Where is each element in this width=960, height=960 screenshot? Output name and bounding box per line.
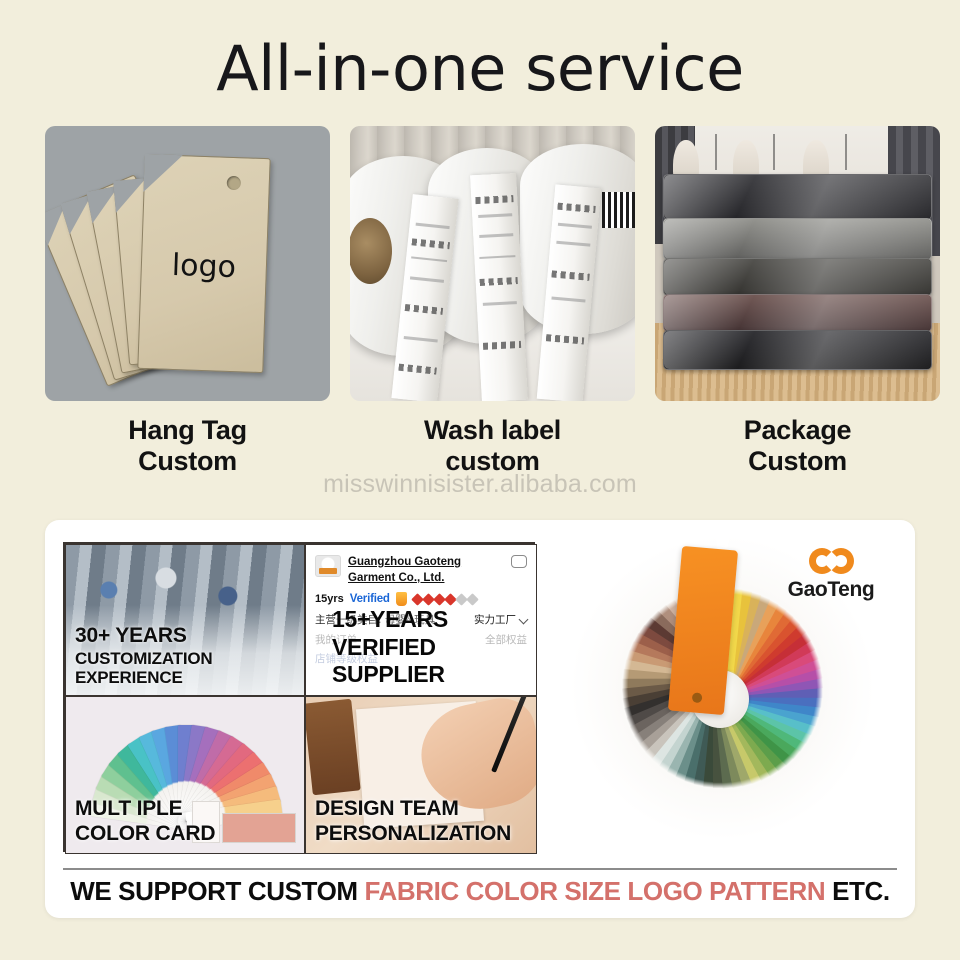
message-icon[interactable] bbox=[511, 555, 527, 568]
service-card-package[interactable]: Package Custom bbox=[655, 126, 940, 477]
hang-tag-logo-text: logo bbox=[141, 247, 266, 286]
package-photo bbox=[655, 126, 940, 401]
years-badge: 15yrs bbox=[315, 593, 344, 605]
footer-prefix: WE SUPPORT CUSTOM bbox=[70, 876, 364, 906]
card-caption-line2: custom bbox=[350, 446, 635, 477]
service-cards-row: logo Hang Tag Custom bbox=[0, 126, 960, 477]
card-caption-line1: Wash label bbox=[350, 415, 635, 446]
card-caption-line1: Package bbox=[655, 415, 940, 446]
hang-tag-hole bbox=[227, 176, 241, 190]
capabilities-grid: 30+ YEARS CUSTOMIZATION EXPERIENCE Guang… bbox=[63, 542, 535, 852]
footer-highlight: FABRIC COLOR SIZE LOGO PATTERN bbox=[364, 876, 825, 906]
design-team-overlay-text: DESIGN TEAM PERSONALIZATION bbox=[315, 797, 511, 846]
chain-link-icon bbox=[771, 546, 891, 576]
garment-rack bbox=[773, 134, 775, 170]
supplier-badges: 15yrs Verified bbox=[306, 586, 536, 606]
barcode-icon bbox=[602, 192, 635, 228]
factory-overlay-line1: 30+ YEARS bbox=[75, 624, 304, 648]
grid-cell-color-card[interactable]: MULT IPLE COLOR CARD bbox=[65, 696, 305, 854]
chain-ring-right-icon bbox=[828, 548, 854, 574]
poly-bag bbox=[663, 330, 932, 370]
gaoteng-logo-text: GaoTeng bbox=[771, 578, 891, 602]
color-card-overlay-line1: MULT IPLE bbox=[75, 797, 215, 821]
roll-core bbox=[350, 218, 392, 284]
panel-footer: WE SUPPORT CUSTOM FABRIC COLOR SIZE LOGO… bbox=[45, 876, 915, 907]
card-caption-hang-tag: Hang Tag Custom bbox=[45, 415, 330, 477]
factory-overlay-text: 30+ YEARS CUSTOMIZATION EXPERIENCE bbox=[75, 624, 304, 688]
leather-swatch bbox=[305, 699, 361, 796]
color-swatch-salmon bbox=[222, 813, 296, 843]
medal-icon bbox=[396, 592, 407, 606]
poly-bag bbox=[663, 258, 932, 296]
card-caption-line1: Hang Tag bbox=[45, 415, 330, 446]
color-card-overlay-text: MULT IPLE COLOR CARD bbox=[75, 797, 215, 846]
garment-rack bbox=[715, 134, 717, 170]
supplier-overlay-line1: 15+YEARS bbox=[332, 606, 536, 634]
hang-tag-photo: logo bbox=[45, 126, 330, 401]
service-card-hang-tag[interactable]: logo Hang Tag Custom bbox=[45, 126, 330, 477]
grid-cell-design-team[interactable]: DESIGN TEAM PERSONALIZATION bbox=[305, 696, 537, 854]
company-avatar-icon bbox=[315, 555, 341, 577]
capabilities-panel: 30+ YEARS CUSTOMIZATION EXPERIENCE Guang… bbox=[45, 520, 915, 918]
capabilities-panel-inner: 30+ YEARS CUSTOMIZATION EXPERIENCE Guang… bbox=[63, 542, 897, 852]
company-name[interactable]: Guangzhou Gaoteng Garment Co., Ltd. bbox=[348, 555, 498, 586]
page-title: All-in-one service bbox=[0, 0, 960, 101]
color-card-overlay-line2: COLOR CARD bbox=[75, 822, 215, 846]
service-card-wash-label[interactable]: Wash label custom bbox=[350, 126, 635, 477]
hang-tag-shape-front: logo bbox=[137, 154, 270, 373]
poly-bag bbox=[663, 174, 932, 220]
footer-suffix: ETC. bbox=[825, 876, 889, 906]
verified-badge: Verified bbox=[350, 593, 390, 605]
gaoteng-logo: GaoTeng bbox=[771, 546, 891, 602]
rating-diamonds bbox=[413, 595, 477, 604]
card-caption-package: Package Custom bbox=[655, 415, 940, 477]
grid-cell-factory[interactable]: 30+ YEARS CUSTOMIZATION EXPERIENCE bbox=[65, 544, 305, 696]
grid-cell-supplier[interactable]: Guangzhou Gaoteng Garment Co., Ltd. 15yr… bbox=[305, 544, 537, 696]
supplier-overlay-line2: VERIFIED SUPPLIER bbox=[332, 634, 536, 689]
factory-overlay-line2: CUSTOMIZATION EXPERIENCE bbox=[75, 649, 304, 688]
supplier-overlay-text: 15+YEARS VERIFIED SUPPLIER bbox=[332, 606, 536, 689]
garment-rack bbox=[845, 134, 847, 170]
design-team-overlay-line1: DESIGN TEAM bbox=[315, 797, 511, 821]
poly-bag bbox=[663, 218, 932, 260]
panel-divider bbox=[63, 868, 897, 870]
design-team-overlay-line2: PERSONALIZATION bbox=[315, 822, 511, 846]
poly-bag bbox=[663, 294, 932, 332]
diamond-icon-empty bbox=[466, 593, 479, 606]
card-caption-line2: Custom bbox=[655, 446, 940, 477]
wash-label-photo bbox=[350, 126, 635, 401]
supplier-header: Guangzhou Gaoteng Garment Co., Ltd. bbox=[306, 545, 536, 586]
card-caption-wash-label: Wash label custom bbox=[350, 415, 635, 477]
card-caption-line2: Custom bbox=[45, 446, 330, 477]
